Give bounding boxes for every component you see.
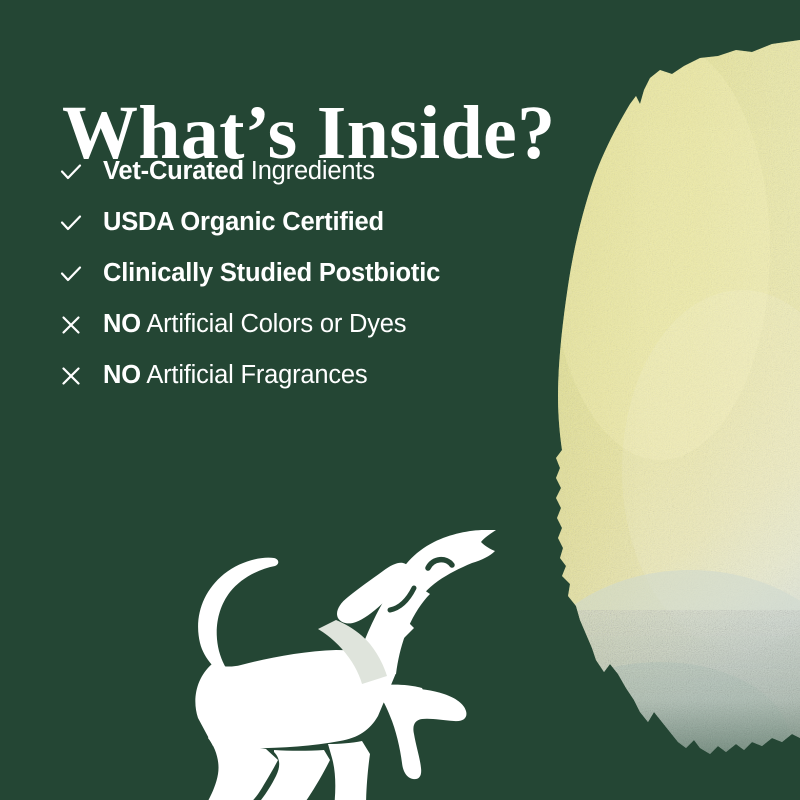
- benefit-item-usda-organic: USDA Organic Certified: [58, 197, 578, 248]
- cross-icon: [58, 310, 92, 340]
- dog-body: [195, 530, 496, 800]
- benefit-label: USDA Organic Certified: [92, 208, 384, 237]
- benefit-label: NO Artificial Fragrances: [92, 361, 367, 390]
- benefit-label-rest: Artificial Colors or Dyes: [141, 310, 406, 338]
- check-icon: [58, 157, 92, 187]
- check-icon: [58, 259, 92, 289]
- benefit-label-bold: NO: [103, 361, 141, 389]
- check-icon: [58, 208, 92, 238]
- benefit-label-bold: Clinically Studied Postbiotic: [103, 259, 440, 287]
- benefit-label: Clinically Studied Postbiotic: [92, 259, 440, 288]
- benefit-label-rest: Ingredients: [244, 157, 375, 185]
- cross-icon: [58, 361, 92, 391]
- benefit-item-no-artificial-colors: NO Artificial Colors or Dyes: [58, 299, 578, 350]
- benefit-label: NO Artificial Colors or Dyes: [92, 310, 406, 339]
- benefit-label-bold: Vet-Curated: [103, 157, 244, 185]
- benefit-label-bold: USDA Organic Certified: [103, 208, 384, 236]
- benefit-label-rest: Artificial Fragrances: [141, 361, 368, 389]
- dog-illustration: [78, 468, 498, 800]
- benefit-label: Vet-Curated Ingredients: [92, 157, 375, 186]
- swatch-crystal-fringe: [540, 610, 800, 800]
- dog-svg: [78, 468, 498, 800]
- promo-card: What’s Inside? Vet-Curated Ingredients U…: [0, 0, 800, 800]
- benefit-label-bold: NO: [103, 310, 141, 338]
- benefit-item-vet-curated: Vet-Curated Ingredients: [58, 146, 578, 197]
- benefit-item-postbiotic: Clinically Studied Postbiotic: [58, 248, 578, 299]
- benefits-list: Vet-Curated Ingredients USDA Organic Cer…: [58, 146, 578, 401]
- benefit-item-no-artificial-fragrances: NO Artificial Fragrances: [58, 350, 578, 401]
